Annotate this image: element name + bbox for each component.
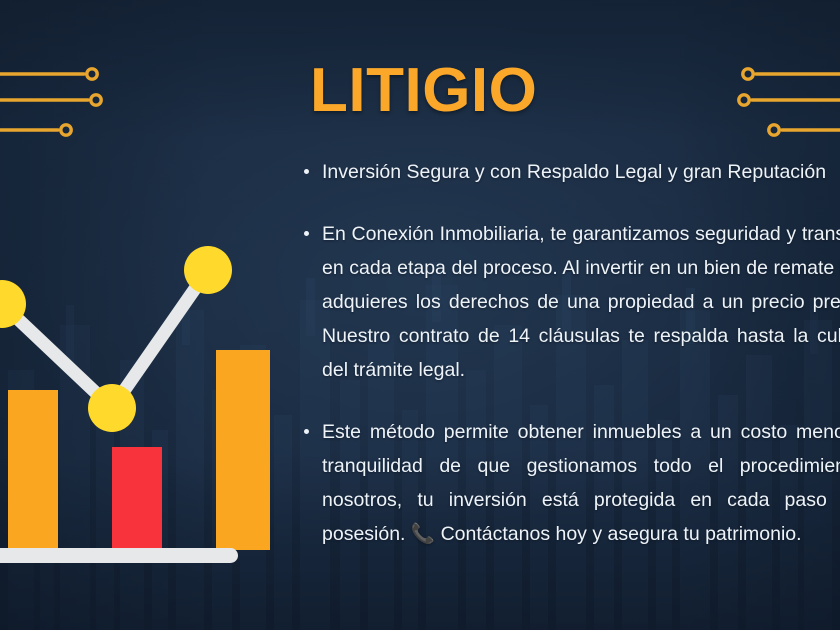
slide-body: Inversión Segura y con Respaldo Legal y … (300, 155, 840, 551)
bullet-marker-icon (304, 169, 309, 174)
chart-bar-1 (8, 390, 58, 550)
circuit-decoration-left (0, 52, 142, 144)
bullet-item: En Conexión Inmobiliaria, te garantizamo… (300, 217, 840, 387)
bullet-marker-icon (304, 231, 309, 236)
bullet-item: Este método permite obtener inmuebles a … (300, 415, 840, 551)
chart-bar-2 (112, 447, 162, 550)
bullet-text: En Conexión Inmobiliaria, te garantizamo… (322, 217, 840, 387)
slide-title: LITIGIO (310, 60, 537, 122)
chart-baseline (0, 548, 238, 563)
circuit-decoration-right (698, 52, 840, 144)
bullet-text: Este método permite obtener inmuebles a … (322, 415, 840, 551)
bullet-text: Inversión Segura y con Respaldo Legal y … (322, 155, 840, 189)
chart-bar-3 (216, 350, 270, 550)
bar-chart-illustration (0, 242, 270, 572)
bullet-marker-icon (304, 429, 309, 434)
presentation-slide: LITIGIO Inversión Segura y con Respaldo … (0, 0, 840, 630)
bullet-item: Inversión Segura y con Respaldo Legal y … (300, 155, 840, 189)
